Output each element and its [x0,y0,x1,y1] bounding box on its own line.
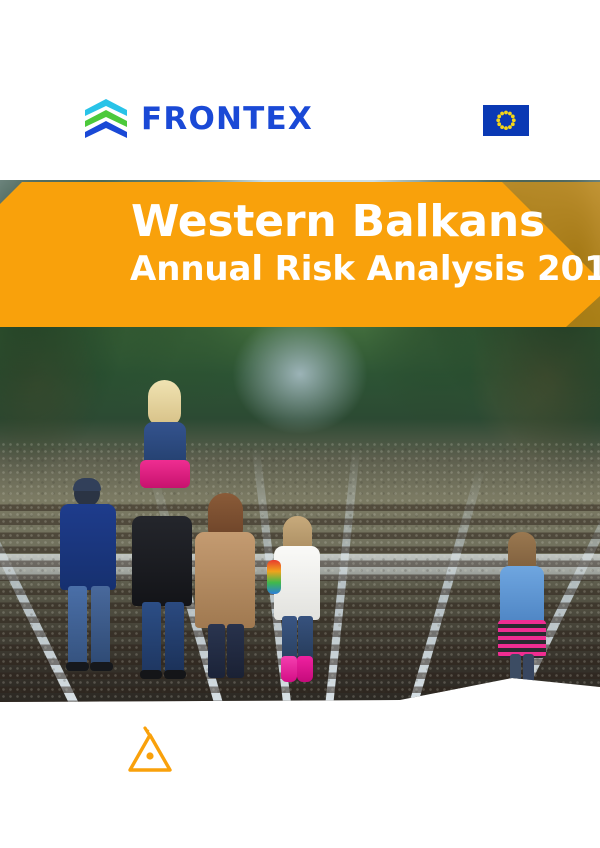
shoe-left [66,662,89,671]
striped-skirt [498,620,546,658]
report-cover-page: Western Balkans Annual Risk Analysis 201… [0,0,600,848]
leg-left [510,654,521,688]
figure-woman-tan-coat [195,496,257,678]
coat [195,532,255,628]
torso [60,504,116,590]
boot-right [297,656,313,682]
title-banner [0,182,600,327]
shoe-right [164,670,186,679]
leg-right [227,624,244,678]
pink-scarf [140,460,190,488]
rainbow-sleeve [267,560,281,594]
leg-right [91,586,110,666]
cover-header: FRONTEX [0,0,600,180]
figure-woman-carrying-child [132,488,194,673]
hair [148,380,181,426]
leg-right [523,654,534,688]
figure-man-blue-jacket [58,480,120,670]
figure-child-on-shoulders [138,380,190,495]
frontex-wordmark: FRONTEX [141,104,313,135]
eu-flag-icon [483,105,529,136]
figure-girl-blue-jacket-right [498,532,546,692]
frontex-chevron-stack-icon [84,98,128,140]
boot-left [281,656,297,682]
shoe-right [90,662,113,671]
cover-footer [0,710,600,848]
leg-left [142,602,161,674]
beanie [73,478,101,491]
leg-right [165,602,184,674]
leg-left [208,624,225,678]
torso [132,516,192,606]
leg-left [68,586,87,666]
frontex-logo: FRONTEX [84,98,313,140]
figure-girl-white-hoodie [272,516,322,686]
triangle-survey-marker-icon [124,726,176,778]
jacket [500,566,544,624]
shoe-left [140,670,162,679]
